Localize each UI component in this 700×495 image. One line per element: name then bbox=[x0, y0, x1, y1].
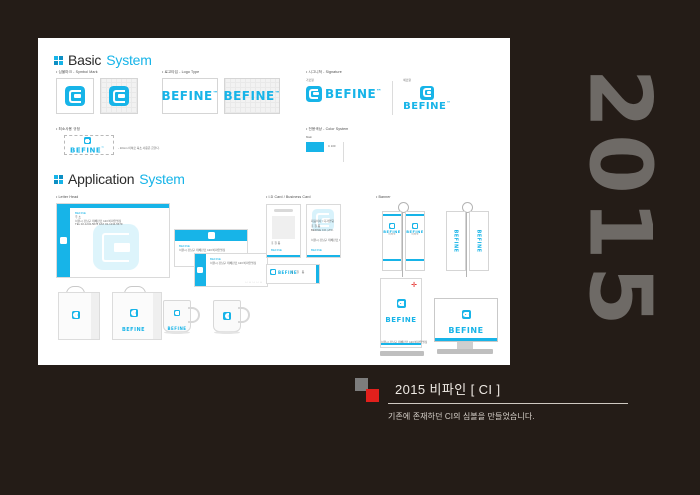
banner-left-2: BEFINE bbox=[446, 211, 466, 271]
signature-divider bbox=[392, 81, 393, 115]
letterhead-watermark-icon bbox=[93, 224, 139, 270]
signature-horizontal: 가로형 BEFINE™ bbox=[306, 79, 382, 101]
standing-banner-bar bbox=[381, 343, 421, 345]
banner-right-1: BEFINE 비 파 인 bbox=[405, 211, 425, 271]
letter-head-label: • Letter Head bbox=[56, 195, 170, 199]
basic-system-heading-part2: System bbox=[106, 52, 151, 68]
befine-wordmark: BEFINE™ bbox=[325, 87, 382, 101]
bag-side bbox=[153, 292, 162, 340]
envelope-small-address: 서울시 강남구 테헤란로 123 비파인빌딩 bbox=[210, 262, 256, 265]
symbol-mark-block: • 심볼마크 - Symbol Mark bbox=[56, 70, 138, 114]
mug-shadow bbox=[214, 331, 240, 334]
banner-right-2: BEFINE bbox=[469, 211, 489, 271]
caption-block: 2015 비파인 [ CI ] 기존에 존재하던 CI의 심볼을 만들었습니다. bbox=[355, 378, 655, 422]
basic-system-heading-part1: Basic bbox=[68, 52, 101, 68]
mug-2 bbox=[213, 300, 249, 336]
id-card-info: 대표이사 / 디자인팀 홍 길 동 BEFINE CO.,LTD. bbox=[311, 219, 334, 232]
monitor-neck bbox=[457, 342, 473, 349]
signature-horizontal-label: 가로형 bbox=[306, 79, 382, 82]
id-card-photo bbox=[272, 216, 295, 239]
caption-rule bbox=[388, 403, 628, 404]
befine-symbol-icon bbox=[208, 232, 215, 239]
monitor-screen: BEFINE bbox=[434, 298, 498, 342]
id-card-bottom-bar bbox=[267, 255, 300, 257]
standing-banner-face: ✛ BEFINE 서울시 강남구 테헤란로 123 비파인빌딩 bbox=[380, 278, 422, 348]
mug-handle bbox=[238, 307, 250, 323]
befine-symbol-icon bbox=[223, 312, 231, 320]
application-system-heading-part1: Application bbox=[68, 171, 134, 187]
plus-icon: ✛ bbox=[411, 282, 417, 289]
application-system-heading: Application System bbox=[54, 171, 185, 187]
befine-symbol-icon bbox=[174, 310, 180, 316]
shopping-bag-1 bbox=[58, 286, 100, 338]
banner-brand: BEFINE bbox=[406, 230, 424, 234]
color-divider bbox=[343, 142, 344, 162]
id-card-slot bbox=[274, 209, 293, 212]
envelope-postcode: □□□□□ bbox=[246, 281, 264, 284]
bag-brand: BEFINE bbox=[122, 327, 145, 333]
befine-wordmark: BEFINE™ bbox=[70, 146, 105, 154]
banner-brand-rotated: BEFINE bbox=[453, 230, 459, 253]
id-card-front: 홍 길 동 BEFINE bbox=[266, 204, 301, 258]
application-system-heading-part2: System bbox=[139, 171, 184, 187]
color-system-block: • 전용색상 - Color System Main C 100 bbox=[306, 127, 426, 162]
befine-wordmark: BEFINE™ bbox=[161, 89, 218, 103]
minimum-use-block: • 최소사용 규정 BEFINE™ - 10mm 이하로 축소 사용은 금한다. bbox=[56, 127, 216, 157]
color-main-label: Main bbox=[306, 136, 335, 139]
id-card-brand: BEFINE bbox=[271, 249, 282, 253]
logo-type-label: • 로고타입 - Logo Type bbox=[162, 70, 280, 74]
befine-symbol-icon bbox=[197, 267, 203, 273]
business-card-edge bbox=[316, 265, 319, 283]
banner-left-1: BEFINE 비 파 인 bbox=[382, 211, 402, 271]
banner-pole bbox=[402, 205, 403, 277]
id-card-label: • I.D Card / Business Card bbox=[266, 195, 341, 199]
minimum-use-label: • 최소사용 규정 bbox=[56, 127, 216, 131]
befine-symbol-icon bbox=[109, 86, 129, 106]
banner-tagline: 비 파 인 bbox=[383, 234, 401, 237]
logotype-on-grid: BEFINE™ bbox=[224, 78, 280, 114]
monitor-screen-bar bbox=[435, 338, 497, 341]
color-system-label: • 전용색상 - Color System bbox=[306, 127, 426, 131]
banner-brand: BEFINE bbox=[383, 230, 401, 234]
befine-symbol-icon bbox=[420, 86, 434, 100]
year-vertical-text: 2015 bbox=[570, 68, 670, 331]
mug-body bbox=[213, 300, 241, 332]
monitor-display: BEFINE bbox=[434, 298, 496, 356]
letterhead-top-bar bbox=[70, 204, 169, 208]
banner-label: • Banner bbox=[376, 195, 494, 199]
business-card-name: 홍 길 동 bbox=[291, 271, 305, 274]
id-card-back-bottom-bar bbox=[307, 255, 340, 257]
mug-shadow bbox=[164, 331, 190, 334]
poster-stage: 2015 Basic System • 심볼마크 - Symbol Mark bbox=[0, 0, 700, 495]
symbol-on-grid bbox=[100, 78, 138, 114]
signature-block: • 시그니쳐 - Signature 가로형 BEFINE™ 세로형 bbox=[306, 70, 496, 115]
minimum-use-note: - 10mm 이하로 축소 사용은 금한다. bbox=[118, 147, 160, 150]
envelope-address: 서울시 강남구 테헤란로 123 비파인빌딩 bbox=[179, 249, 225, 252]
bag-body bbox=[58, 292, 93, 340]
signature-label: • 시그니쳐 - Signature bbox=[306, 70, 496, 74]
caption-subtitle: 기존에 존재하던 CI의 심볼을 만들었습니다. bbox=[388, 411, 655, 422]
befine-symbol-icon bbox=[72, 311, 80, 319]
basic-system-heading: Basic System bbox=[54, 52, 152, 68]
logo-type-block: • 로고타입 - Logo Type BEFINE™ BEFINE™ bbox=[162, 70, 280, 114]
mugs-group: BEFINE bbox=[163, 300, 249, 336]
symbol-on-white bbox=[56, 78, 94, 114]
befine-wordmark: BEFINE™ bbox=[223, 89, 280, 103]
year-vertical-label: 2015 bbox=[560, 40, 680, 360]
monitor-base bbox=[437, 349, 493, 354]
four-square-icon bbox=[54, 175, 63, 184]
id-card-back-brand: BEFINE bbox=[311, 249, 322, 253]
befine-symbol-icon bbox=[389, 223, 395, 229]
befine-symbol-icon bbox=[84, 137, 91, 144]
color-chip bbox=[306, 142, 324, 152]
four-square-icon bbox=[54, 56, 63, 65]
color-swatch-main: Main C 100 bbox=[306, 136, 335, 162]
banner-pole bbox=[466, 205, 467, 277]
befine-symbol-icon bbox=[397, 299, 406, 308]
befine-symbol-icon bbox=[270, 269, 276, 275]
monitor-brand: BEFINE bbox=[448, 326, 483, 335]
caption-squares-icon bbox=[355, 378, 389, 398]
id-card-block: • I.D Card / Business Card 홍 길 동 BEFINE … bbox=[266, 195, 341, 284]
envelope-side-bar bbox=[195, 254, 206, 286]
envelope-small: BEFINE 서울시 강남구 테헤란로 123 비파인빌딩 □□□□□ bbox=[194, 253, 268, 287]
mug-1: BEFINE bbox=[163, 300, 199, 336]
mug-body: BEFINE bbox=[163, 300, 191, 332]
signature-vertical-label: 세로형 bbox=[403, 79, 451, 82]
letter-head-block: • Letter Head BEFINE 주 소 서울시 강남구 테헤란로 12… bbox=[56, 195, 170, 278]
id-card-back: 대표이사 / 디자인팀 홍 길 동 BEFINE CO.,LTD. 서울시 강남… bbox=[306, 204, 341, 258]
befine-symbol-icon bbox=[65, 86, 85, 106]
color-value: C 100 bbox=[328, 145, 335, 148]
letterhead-line3: TEL 02-1234-5678 FAX 02-1234-5679 bbox=[75, 223, 122, 226]
logotype-on-white: BEFINE™ bbox=[162, 78, 218, 114]
id-card-name: 홍 길 동 bbox=[271, 242, 280, 245]
standing-banner: ✛ BEFINE 서울시 강남구 테헤란로 123 비파인빌딩 bbox=[380, 278, 424, 358]
letterhead-side-bar bbox=[57, 204, 70, 277]
standing-banner-brand: BEFINE bbox=[385, 316, 416, 324]
caption-title: 2015 비파인 [ CI ] bbox=[395, 379, 500, 398]
befine-symbol-icon bbox=[412, 223, 418, 229]
bag-side bbox=[91, 292, 100, 340]
banner-tagline: 비 파 인 bbox=[406, 234, 424, 237]
signature-vertical: 세로형 BEFINE™ bbox=[403, 79, 451, 111]
banner-block: • Banner BEFINE 비 파 인 BEFINE 비 파 인 bbox=[376, 195, 494, 277]
shopping-bags-group: BEFINE bbox=[58, 286, 162, 338]
mug-handle bbox=[188, 307, 200, 323]
symbol-mark-label: • 심볼마크 - Symbol Mark bbox=[56, 70, 138, 74]
befine-wordmark: BEFINE™ bbox=[403, 101, 451, 112]
befine-symbol-icon bbox=[130, 309, 138, 317]
ci-sheet: Basic System • 심볼마크 - Symbol Mark • 로고타입… bbox=[38, 38, 510, 365]
id-card-contact: 서울시 강남구 테헤란로 123 T. 02-1234-5678 M. 010-… bbox=[311, 239, 341, 242]
bag-body: BEFINE bbox=[112, 292, 155, 340]
banner-brand-rotated: BEFINE bbox=[476, 230, 482, 253]
letterhead-sheet: BEFINE 주 소 서울시 강남구 테헤란로 123 비파인빌딩 TEL 02… bbox=[56, 203, 170, 278]
befine-symbol-icon bbox=[462, 310, 471, 319]
befine-symbol-icon bbox=[60, 237, 67, 244]
business-card: BEFINE 홍 길 동 bbox=[266, 264, 320, 284]
shopping-bag-2: BEFINE bbox=[112, 286, 162, 338]
befine-symbol-icon bbox=[306, 86, 322, 102]
standing-banner-base bbox=[380, 351, 424, 356]
